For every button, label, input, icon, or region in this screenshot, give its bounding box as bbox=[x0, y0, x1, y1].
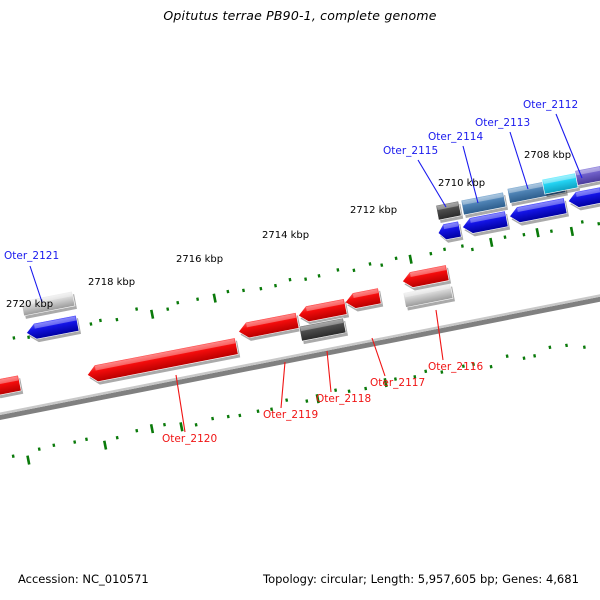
label-leader-line bbox=[281, 362, 285, 408]
axis-tick-label: 2718 kbp bbox=[88, 277, 135, 288]
gene-labels: Oter_2112Oter_2113Oter_2114Oter_2115Oter… bbox=[4, 99, 578, 445]
accession-text: Accession: NC_010571 bbox=[18, 572, 149, 586]
gene-track-lower bbox=[0, 187, 600, 400]
axis-tick-label: 2714 kbp bbox=[262, 230, 309, 241]
label-leader-line bbox=[327, 351, 331, 392]
label-leader-lines bbox=[30, 114, 582, 432]
feature-tick-marks bbox=[0, 218, 600, 465]
axis-tick-label: 2716 kbp bbox=[176, 254, 223, 265]
gene-feature[interactable] bbox=[436, 201, 463, 223]
gene-label-oter_2112[interactable]: Oter_2112 bbox=[523, 99, 578, 111]
axis-tick-label: 2720 kbp bbox=[6, 299, 53, 310]
gene-label-oter_2120[interactable]: Oter_2120 bbox=[162, 433, 217, 445]
label-leader-line bbox=[436, 310, 443, 360]
genome-backbone-axis bbox=[0, 290, 600, 424]
label-leader-line bbox=[463, 146, 478, 203]
gene-label-oter_2117[interactable]: Oter_2117 bbox=[370, 377, 425, 389]
gene-label-oter_2115[interactable]: Oter_2115 bbox=[383, 145, 438, 157]
gene-label-oter_2116[interactable]: Oter_2116 bbox=[428, 361, 483, 373]
gene-feature[interactable] bbox=[25, 315, 81, 344]
axis-tick-label: 2712 kbp bbox=[350, 205, 397, 216]
gene-label-oter_2118[interactable]: Oter_2118 bbox=[316, 393, 371, 405]
gene-label-oter_2119[interactable]: Oter_2119 bbox=[263, 409, 318, 421]
genome-diagram: 2720 kbp2718 kbp2716 kbp2714 kbp2712 kbp… bbox=[0, 0, 600, 600]
gene-feature[interactable] bbox=[237, 312, 301, 342]
gene-label-oter_2121[interactable]: Oter_2121 bbox=[4, 250, 59, 262]
axis-tick-label: 2708 kbp bbox=[524, 150, 571, 161]
axis-tick-label: 2710 kbp bbox=[438, 178, 485, 189]
gene-feature[interactable] bbox=[437, 221, 464, 244]
gene-label-oter_2114[interactable]: Oter_2114 bbox=[428, 131, 483, 143]
gene-label-oter_2113[interactable]: Oter_2113 bbox=[475, 117, 530, 129]
gene-feature[interactable] bbox=[0, 375, 23, 400]
genome-map-canvas: Opitutus terrae PB90-1, complete genome bbox=[0, 0, 600, 600]
label-leader-line bbox=[556, 114, 582, 178]
genome-meta-text: Topology: circular; Length: 5,957,605 bp… bbox=[263, 572, 579, 586]
label-leader-line bbox=[30, 266, 42, 302]
gene-feature[interactable] bbox=[344, 288, 383, 313]
gene-feature[interactable] bbox=[86, 338, 240, 387]
